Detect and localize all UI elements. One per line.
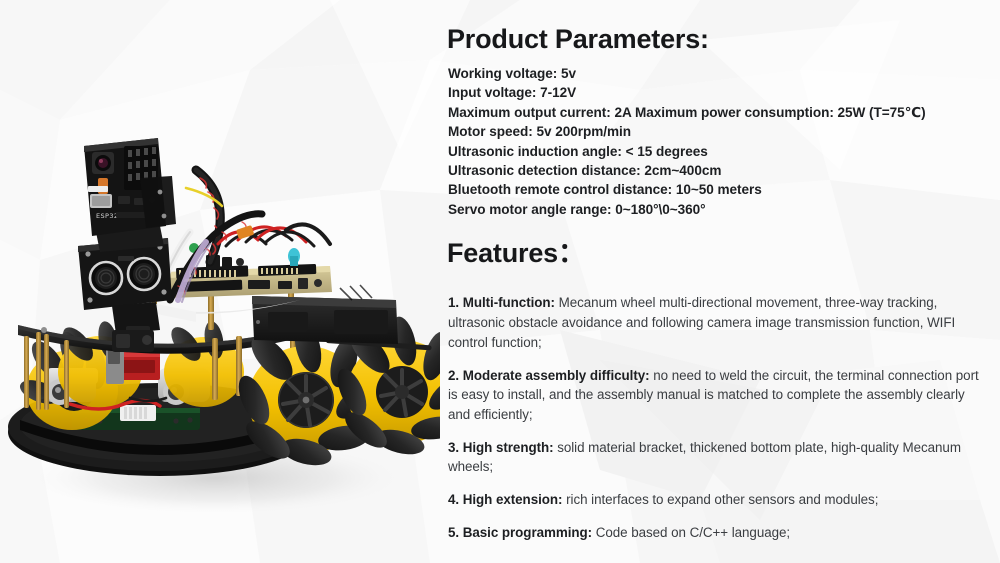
feature-lead: 4. High extension: bbox=[448, 492, 562, 507]
product-info-panel: Product Parameters: Working voltage: 5v … bbox=[447, 0, 992, 563]
feature-lead: 1. Multi-function: bbox=[448, 295, 555, 310]
parameter-line: Ultrasonic induction angle: < 15 degrees bbox=[448, 142, 988, 161]
feature-item: 3. High strength: solid material bracket… bbox=[448, 438, 984, 477]
feature-item: 2. Moderate assembly difficulty: no need… bbox=[448, 366, 984, 425]
product-detail-page: ESP32-CAM bbox=[0, 0, 1000, 563]
feature-lead: 5. Basic programming: bbox=[448, 525, 592, 540]
product-photo: ESP32-CAM bbox=[0, 0, 440, 563]
feature-body: rich interfaces to expand other sensors … bbox=[562, 492, 878, 507]
feature-lead: 3. High strength: bbox=[448, 440, 554, 455]
parameter-line: Ultrasonic detection distance: 2cm~400cm bbox=[448, 161, 988, 180]
feature-item: 1. Multi-function: Mecanum wheel multi-d… bbox=[448, 293, 984, 352]
parameter-line: Motor speed: 5v 200rpm/min bbox=[448, 122, 988, 141]
feature-lead: 2. Moderate assembly difficulty: bbox=[448, 368, 650, 383]
parameters-list: Working voltage: 5v Input voltage: 7-12V… bbox=[448, 64, 988, 219]
feature-item: 4. High extension: rich interfaces to ex… bbox=[448, 490, 984, 510]
parameter-line: Servo motor angle range: 0~180°\0~360° bbox=[448, 200, 988, 219]
features-title: Features： bbox=[447, 240, 585, 267]
parameter-line: Bluetooth remote control distance: 10~50… bbox=[448, 180, 988, 199]
parameter-line: Maximum output current: 2A Maximum power… bbox=[448, 103, 988, 122]
mecanum-wheel-mid-left-inner bbox=[164, 320, 244, 407]
parameter-line: Input voltage: 7-12V bbox=[448, 83, 988, 102]
feature-body: Code based on C/C++ language; bbox=[592, 525, 790, 540]
camera-mount bbox=[140, 176, 176, 228]
feature-item: 5. Basic programming: Code based on C/C+… bbox=[448, 523, 984, 543]
pan-tilt-servo bbox=[112, 330, 154, 352]
parameter-line: Working voltage: 5v bbox=[448, 64, 988, 83]
features-list: 1. Multi-function: Mecanum wheel multi-d… bbox=[448, 280, 984, 543]
product-parameters-title: Product Parameters: bbox=[447, 26, 709, 53]
